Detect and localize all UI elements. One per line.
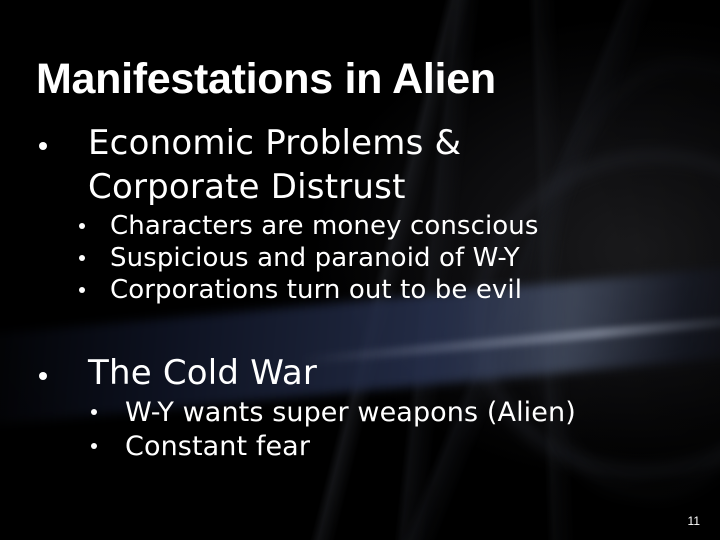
bullet-item-level1-continuation: Corporate Distrust (0, 166, 720, 208)
bullet-item-level1: The Cold War (0, 352, 720, 394)
group-spacer (0, 306, 720, 352)
bullet-item-level2: W-Y wants super weapons (Alien) (0, 396, 720, 430)
bullet-text-level2: Characters are money conscious (110, 210, 539, 242)
presentation-slide: Manifestations in Alien Economic Problem… (0, 0, 720, 540)
bullet-item-level1: Economic Problems & (0, 122, 720, 164)
bullet-item-level2: Corporations turn out to be evil (0, 274, 720, 306)
bullet-item-level2: Characters are money conscious (0, 210, 720, 242)
bullet-dot-icon (79, 223, 85, 229)
bullet-dot-icon (39, 142, 47, 150)
bullet-item-level2: Suspicious and paranoid of W-Y (0, 242, 720, 274)
bullet-text-level1: The Cold War (88, 352, 317, 394)
bullet-text-level1-wrap: Corporate Distrust (88, 166, 406, 208)
bullet-dot-icon (39, 372, 47, 380)
bullet-group-cold-war: The Cold War W-Y wants super weapons (Al… (0, 352, 720, 464)
bullet-dot-icon (91, 409, 97, 415)
bullet-dot-icon (91, 443, 97, 449)
slide-page-number: 11 (688, 514, 700, 528)
bullet-text-level2: Constant fear (125, 430, 310, 464)
bullet-text-level2: Corporations turn out to be evil (110, 274, 522, 306)
bullet-dot-icon (79, 255, 85, 261)
bullet-text-level2: W-Y wants super weapons (Alien) (125, 396, 576, 430)
bullet-text-level1: Economic Problems & (88, 122, 461, 164)
bullet-text-level2: Suspicious and paranoid of W-Y (110, 242, 520, 274)
slide-title: Manifestations in Alien (36, 55, 496, 103)
slide-body: Economic Problems & Corporate Distrust C… (0, 122, 720, 464)
slide-content: Manifestations in Alien Economic Problem… (0, 0, 720, 540)
bullet-dot-icon (79, 287, 85, 293)
bullet-group-economic: Economic Problems & Corporate Distrust C… (0, 122, 720, 306)
bullet-item-level2: Constant fear (0, 430, 720, 464)
